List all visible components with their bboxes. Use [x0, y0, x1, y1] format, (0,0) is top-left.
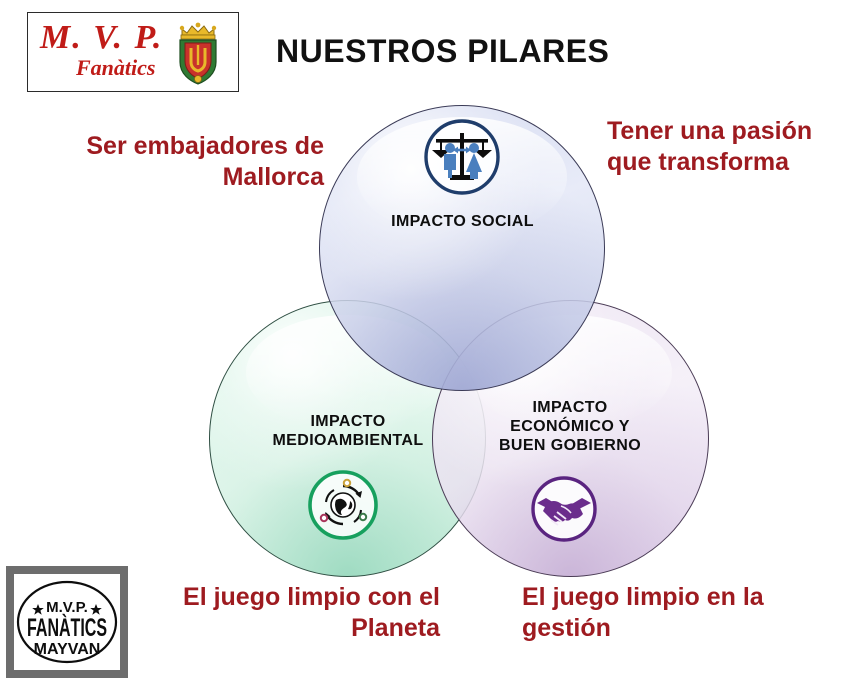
- globe-recycle-arrows-icon: [306, 468, 380, 542]
- handshake-icon: [528, 473, 600, 545]
- venn-diagram: IMPACTO SOCIAL IMPACTO MEDIOAMBIENTAL IM…: [0, 0, 867, 693]
- footer-badge-line2: FANÀTICS: [27, 613, 107, 642]
- footer-badge-logo: M.V.P. FANÀTICS MAYVAN: [6, 566, 128, 678]
- footer-badge-line3: MAYVAN: [34, 641, 101, 658]
- venn-label-economic: IMPACTO ECONÓMICO Y BUEN GOBIERNO: [470, 398, 670, 456]
- slide-canvas: M. V. P. Fanàtics NUESTROS PILARES Ser e…: [0, 0, 867, 693]
- footer-badge-inner: M.V.P. FANÀTICS MAYVAN: [14, 574, 120, 670]
- gender-equality-scales-icon: [422, 117, 502, 197]
- mvp-fanatics-mayvan-oval-icon: M.V.P. FANÀTICS MAYVAN: [14, 574, 120, 670]
- venn-label-environmental: IMPACTO MEDIOAMBIENTAL: [238, 412, 458, 450]
- venn-label-social: IMPACTO SOCIAL: [355, 212, 570, 231]
